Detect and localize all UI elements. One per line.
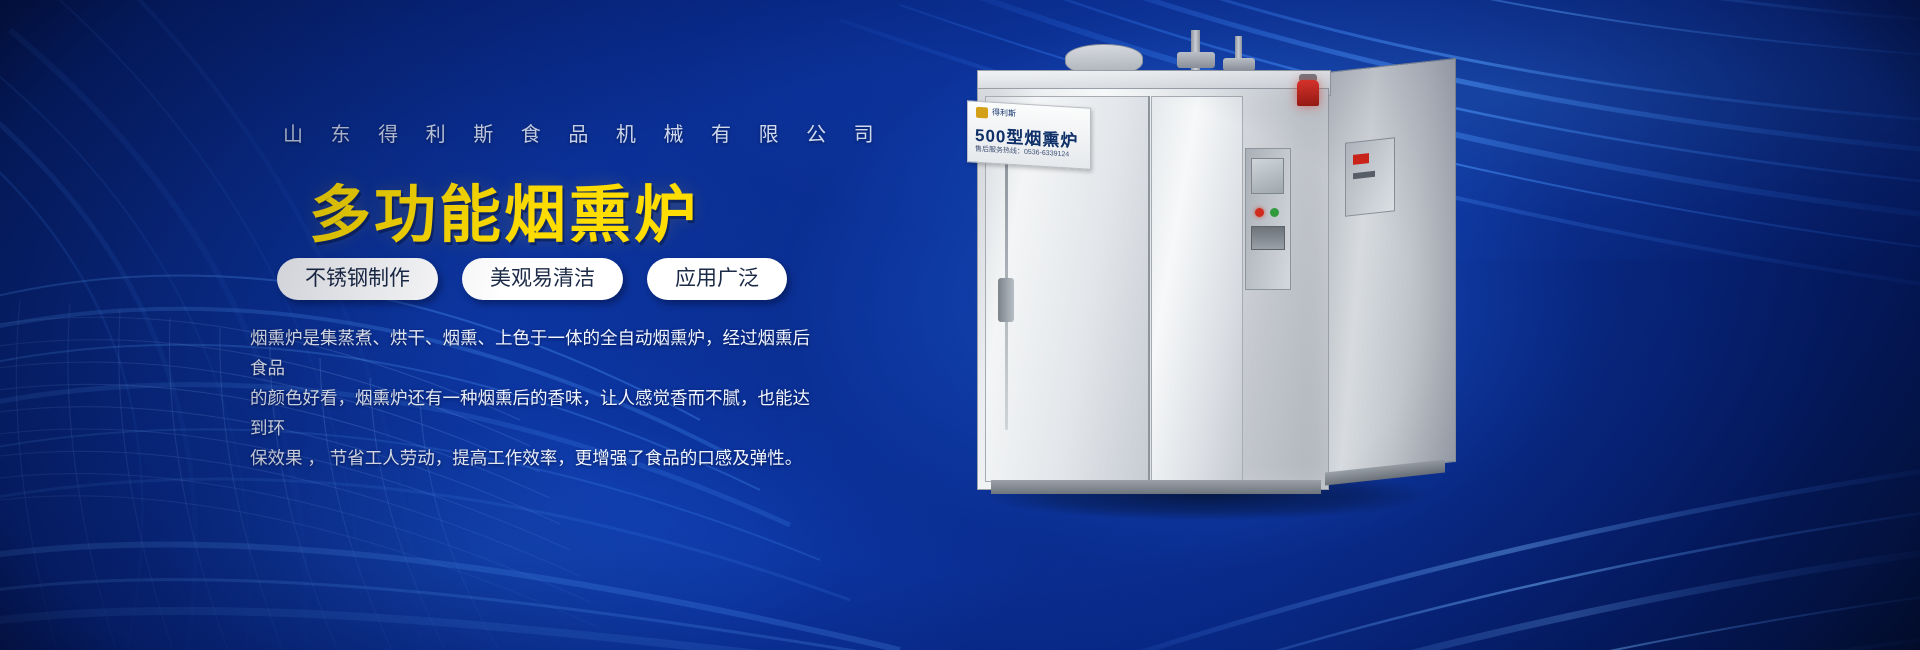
oven-side-panel (1326, 58, 1456, 476)
product-image-smokehouse-oven: 得利斯 500型烟熏炉 售后服务热线：0536-6339124 (905, 30, 1545, 530)
oven-base-front (991, 480, 1321, 494)
control-panel-red-button (1255, 208, 1264, 217)
description-line-3: 保效果 ， 节省工人劳动，提高工作效率，更增强了食品的口感及弹性。 (250, 443, 810, 473)
feature-pill-list: 不锈钢制作 美观易清洁 应用广泛 (277, 258, 787, 300)
description-line-1: 烟熏炉是集蒸煮、烘干、烟熏、上色于一体的全自动烟熏炉，经过烟熏后食品 (250, 323, 810, 383)
promo-banner: 山 东 得 利 斯 食 品 机 械 有 限 公 司 多功能烟熏炉 不锈钢制作 美… (0, 0, 1920, 650)
control-panel-green-button (1270, 208, 1279, 217)
side-junction-box-indicator (1353, 153, 1369, 165)
door-handle-grip (998, 278, 1014, 322)
oven-door-right (1151, 96, 1243, 482)
feature-pill-wide-use[interactable]: 应用广泛 (647, 258, 787, 300)
banner-content: 山 东 得 利 斯 食 品 机 械 有 限 公 司 多功能烟熏炉 不锈钢制作 美… (0, 0, 860, 650)
alarm-beacon-light (1297, 80, 1319, 106)
feature-pill-easy-clean[interactable]: 美观易清洁 (462, 258, 623, 300)
nameplate-brand: 得利斯 (992, 107, 1016, 119)
page-title: 多功能烟熏炉 (309, 164, 699, 254)
valve-left (1177, 52, 1215, 68)
machine-nameplate: 得利斯 500型烟熏炉 售后服务热线：0536-6339124 (967, 100, 1091, 170)
feature-pill-stainless[interactable]: 不锈钢制作 (277, 258, 438, 300)
control-panel-vent-strip (1251, 226, 1285, 250)
product-description: 烟熏炉是集蒸煮、烘干、烟熏、上色于一体的全自动烟熏炉，经过烟熏后食品 的颜色好看… (250, 323, 810, 473)
control-panel-display (1251, 158, 1284, 194)
company-name: 山 东 得 利 斯 食 品 机 械 有 限 公 司 (283, 118, 885, 147)
description-line-2: 的颜色好看，烟熏炉还有一种烟熏后的香味，让人感觉香而不腻，也能达到环 (250, 383, 810, 443)
oven-door-seam (1148, 96, 1150, 480)
brand-logo-icon (976, 107, 988, 119)
